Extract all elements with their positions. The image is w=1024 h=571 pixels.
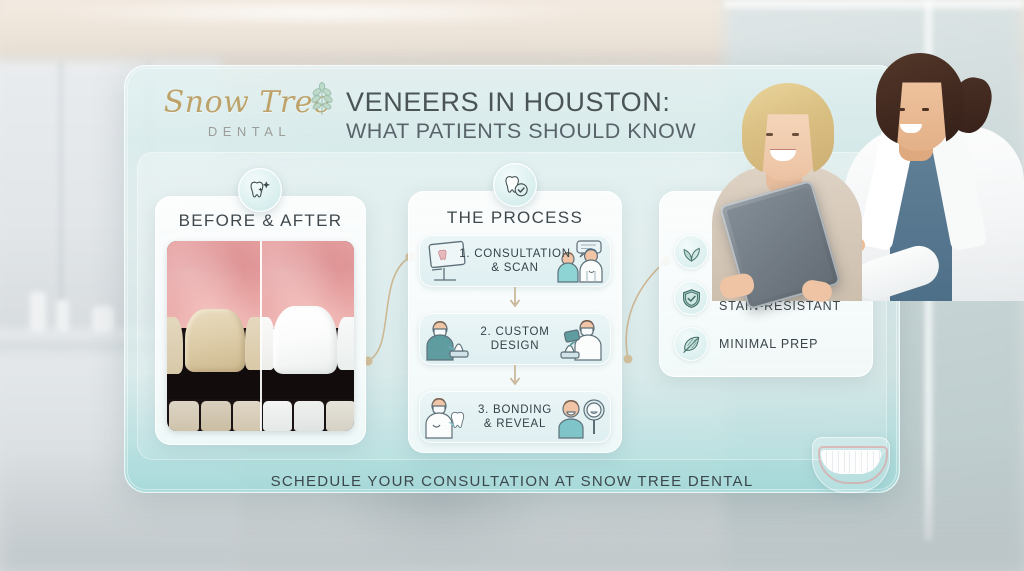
after-half <box>261 241 355 431</box>
title-line-1: VENEERS IN HOUSTON: <box>346 87 696 117</box>
card-title-process: THE PROCESS <box>408 208 622 228</box>
lower-teeth-after <box>261 401 355 431</box>
tooth-check-icon <box>493 163 537 207</box>
process-step-3-label: 3. BONDING & REVEAL <box>478 403 552 432</box>
process-step-2-label: 2. CUSTOM DESIGN <box>480 325 549 354</box>
card-title-before-after: BEFORE & AFTER <box>155 211 366 231</box>
dentist-tooth-icon <box>424 395 476 439</box>
patient-mirror-icon <box>553 395 607 439</box>
tooth-sparkle-icon <box>238 168 282 212</box>
background-counter-object <box>56 300 69 332</box>
before-half <box>167 241 261 431</box>
process-arrow-2 <box>509 365 521 389</box>
floating-smile-preview <box>812 437 890 493</box>
leaf-sprig-icon <box>307 82 337 116</box>
process-step-1: 1. CONSULTATION & SCAN <box>419 235 611 287</box>
dentist-shade-icon <box>553 317 607 361</box>
process-step-3: 3. BONDING & REVEAL <box>419 391 611 443</box>
leaf-icon <box>674 235 708 269</box>
tooth-after <box>273 306 337 374</box>
technician-model-icon <box>424 317 476 361</box>
brand-sub-name: DENTAL <box>160 124 335 139</box>
background-ceiling-light <box>40 2 600 24</box>
background-counter-object <box>92 306 114 332</box>
infographic-canvas: Snow Tree DENTAL VENEERS IN HOUSTON: WHA… <box>0 0 1024 571</box>
lower-teeth-before <box>167 401 261 431</box>
background-window-header <box>724 0 1024 8</box>
before-after-divider <box>260 241 262 431</box>
before-after-photo <box>167 241 354 431</box>
process-step-1-label: 1. CONSULTATION & SCAN <box>459 247 571 276</box>
tooth-before <box>185 309 245 372</box>
brand-logo: Snow Tree DENTAL <box>160 88 335 150</box>
card-process: THE PROCESS 1. CONSULTATION & SCAN <box>408 191 622 453</box>
photo-people <box>694 301 1024 571</box>
card-before-after: BEFORE & AFTER <box>155 196 366 445</box>
background-counter-object <box>30 292 46 332</box>
process-arrow-1 <box>509 287 521 311</box>
page-title: VENEERS IN HOUSTON: WHAT PATIENTS SHOULD… <box>346 87 696 145</box>
process-step-2: 2. CUSTOM DESIGN <box>419 313 611 365</box>
title-line-2: WHAT PATIENTS SHOULD KNOW <box>346 119 696 145</box>
